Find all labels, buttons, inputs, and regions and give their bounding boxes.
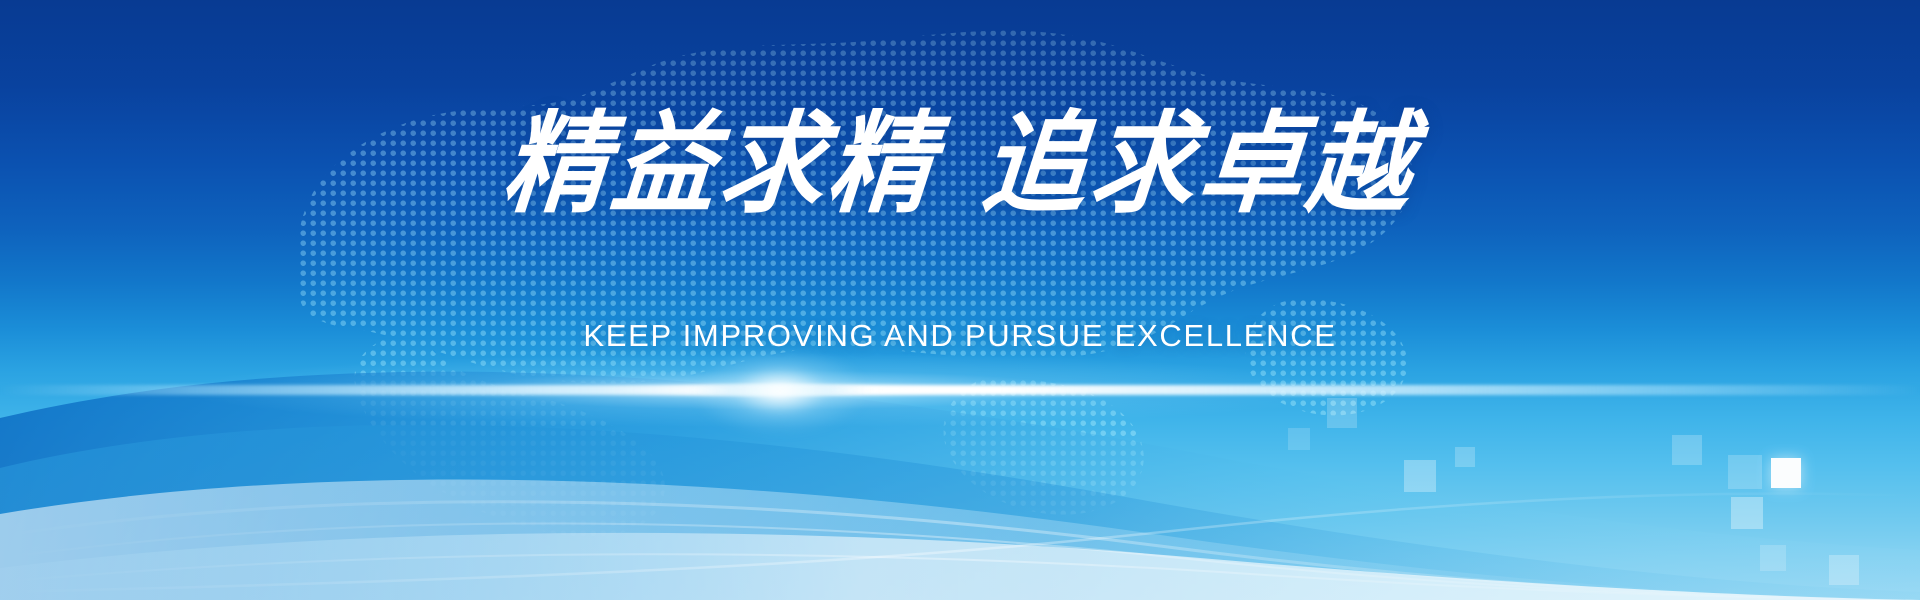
decor-square xyxy=(1327,398,1357,428)
decor-square xyxy=(1731,497,1763,529)
decor-square xyxy=(1672,435,1702,465)
decor-square xyxy=(1728,455,1762,489)
decor-square-highlight xyxy=(1771,458,1801,488)
decor-square xyxy=(1829,555,1859,585)
decor-square xyxy=(1760,545,1786,571)
hero-banner: 精益求精追求卓越 KEEP IMPROVING AND PURSUE EXCEL… xyxy=(0,0,1920,600)
headline-subtitle: KEEP IMPROVING AND PURSUE EXCELLENCE xyxy=(0,318,1920,354)
decor-square xyxy=(1455,447,1475,467)
light-beam-hotspot xyxy=(690,345,870,437)
decor-square xyxy=(1288,428,1310,450)
decor-square xyxy=(1404,460,1436,492)
